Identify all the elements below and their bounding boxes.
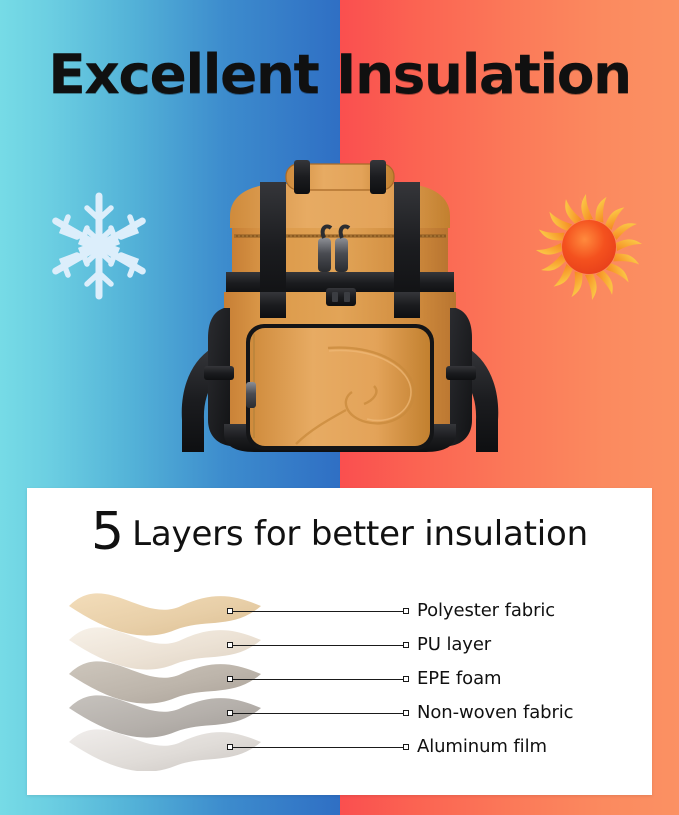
leader-marker-end [403, 608, 409, 614]
layer-headline-text: Layers for better insulation [132, 514, 588, 554]
layers-feature-card: 5Layers for better insulation [27, 488, 652, 795]
snowflake-icon [47, 190, 151, 302]
layer-leader-3 [227, 674, 409, 686]
layer-leader-1 [227, 606, 409, 618]
layer-count: 5 [91, 502, 124, 562]
layer-label-1: Polyester fabric [417, 600, 555, 621]
layer-label-4: Non-woven fabric [417, 702, 573, 723]
layer-stack-illustration [65, 556, 365, 771]
page-title: Excellent Insulation [0, 48, 679, 102]
leader-marker-end [403, 676, 409, 682]
leader-marker-end [403, 710, 409, 716]
layer-leader-5 [227, 742, 409, 754]
layers-headline: 5Layers for better insulation [27, 502, 652, 562]
layer-label-3: EPE foam [417, 668, 501, 689]
leader-marker-end [403, 744, 409, 750]
product-infographic: Excellent Insulation [0, 0, 679, 815]
leader-marker-end [403, 642, 409, 648]
layer-label-2: PU layer [417, 634, 491, 655]
layer-leader-4 [227, 708, 409, 720]
sun-icon [534, 192, 644, 302]
insulated-lunch-bag [168, 152, 512, 482]
layer-label-5: Aluminum film [417, 736, 547, 757]
layer-leader-2 [227, 640, 409, 652]
